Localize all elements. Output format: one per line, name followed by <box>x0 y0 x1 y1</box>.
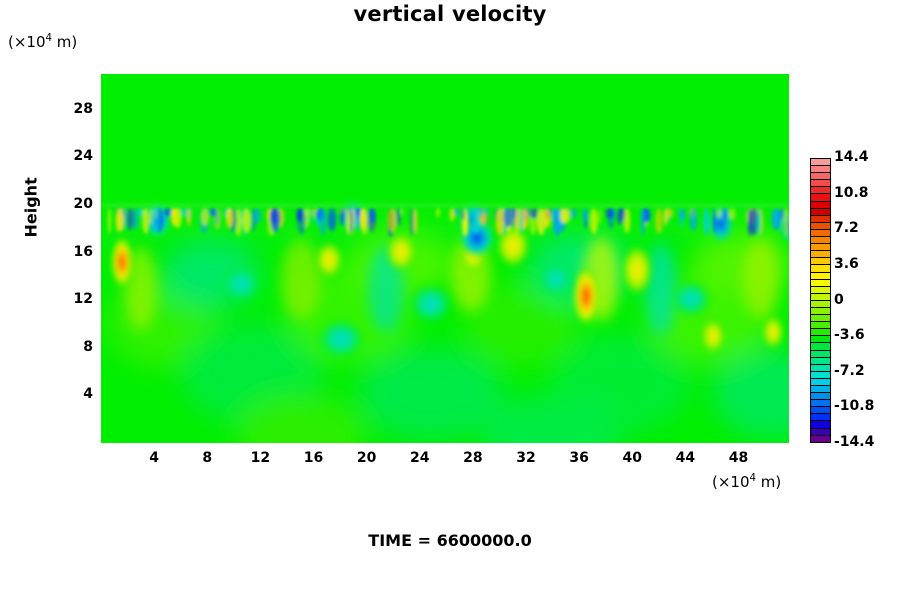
colorbar-segment <box>811 166 830 173</box>
interface-finger <box>164 208 172 216</box>
interface-finger <box>253 208 261 224</box>
x-tick-label: 36 <box>559 450 599 466</box>
colorbar-segment <box>811 429 830 436</box>
colorbar-tick-label: -14.4 <box>834 434 874 450</box>
interface-finger <box>462 208 465 221</box>
interface-finger <box>560 208 567 223</box>
x-tick-label: 32 <box>506 450 546 466</box>
colorbar-tick-label: 3.6 <box>834 256 859 272</box>
interface-finger <box>355 208 361 217</box>
y-tick-label: 4 <box>49 386 93 402</box>
heatmap-image <box>101 74 789 443</box>
interface-finger <box>175 208 182 228</box>
interface-finger <box>187 208 191 226</box>
interface-finger <box>116 208 123 232</box>
interface-finger <box>605 208 612 218</box>
interface-finger <box>388 208 397 232</box>
interface-finger <box>319 208 328 235</box>
y-tick-label: 24 <box>49 148 93 164</box>
colorbar-segment <box>811 287 830 294</box>
x-tick-label: 24 <box>400 450 440 466</box>
interface-finger <box>360 208 365 229</box>
interface-finger <box>655 208 663 234</box>
interface-finger <box>122 208 125 216</box>
interface-finger <box>308 208 312 223</box>
interface-finger <box>530 208 537 219</box>
interface-finger <box>497 208 501 227</box>
interface-finger <box>757 208 761 236</box>
interface-finger <box>623 208 630 233</box>
colorbar-segment <box>811 329 830 336</box>
interface-finger <box>703 208 709 235</box>
colorbar-segment <box>811 421 830 428</box>
colorbar-segment <box>811 244 830 251</box>
interface-finger <box>328 208 336 231</box>
colorbar-segment <box>811 294 830 301</box>
colorbar-tick-label: -7.2 <box>834 363 865 379</box>
interface-finger <box>689 208 698 231</box>
colorbar-segment <box>811 265 830 272</box>
colorbar-segment <box>811 436 830 442</box>
y-tick-label: 12 <box>49 291 93 307</box>
interface-finger <box>481 208 488 215</box>
interface-finger <box>369 208 376 224</box>
colorbar-segment <box>811 336 830 343</box>
interface-finger <box>729 208 736 220</box>
colorbar-segment <box>811 180 830 187</box>
y-tick-label: 28 <box>49 101 93 117</box>
colorbar-segment <box>811 351 830 358</box>
colorbar-segment <box>811 237 830 244</box>
y-tick-label: 16 <box>49 244 93 260</box>
colorbar-segment <box>811 251 830 258</box>
interface-finger <box>570 208 578 219</box>
interface-finger <box>449 208 455 221</box>
colorbar-segment <box>811 400 830 407</box>
x-tick-label: 4 <box>134 450 174 466</box>
interface-finger <box>504 208 513 227</box>
x-tick-label: 44 <box>665 450 705 466</box>
y-axis-title: Height <box>22 212 41 238</box>
interface-finger <box>473 208 480 234</box>
interface-finger <box>296 208 302 222</box>
interface-finger <box>413 208 417 233</box>
colorbar[interactable] <box>810 158 831 443</box>
colorbar-segment <box>811 386 830 393</box>
x-tick-label: 16 <box>294 450 334 466</box>
x-tick-label: 12 <box>240 450 280 466</box>
colorbar-segment <box>811 187 830 194</box>
interface-finger <box>201 208 209 226</box>
colorbar-segment <box>811 258 830 265</box>
x-tick-label: 40 <box>612 450 652 466</box>
interface-finger <box>215 208 219 226</box>
colorbar-segment <box>811 343 830 350</box>
colorbar-segment <box>811 223 830 230</box>
y-tick-label: 8 <box>49 339 93 355</box>
colorbar-segment <box>811 273 830 280</box>
colorbar-segment <box>811 414 830 421</box>
colorbar-tick-label: 7.2 <box>834 220 859 236</box>
colorbar-segment <box>811 379 830 386</box>
interface-finger <box>750 208 759 235</box>
colorbar-tick-label: 14.4 <box>834 149 869 165</box>
interface-finger <box>679 208 686 221</box>
interface-finger <box>713 208 717 233</box>
interface-finger <box>151 208 160 231</box>
y-tick-label: 20 <box>49 196 93 212</box>
interface-finger <box>520 208 523 234</box>
interface-finger <box>400 208 403 216</box>
interface-finger <box>346 208 349 235</box>
interface-finger <box>772 208 781 230</box>
x-tick-label: 48 <box>719 450 759 466</box>
colorbar-segment <box>811 280 830 287</box>
colorbar-segment <box>811 372 830 379</box>
x-tick-label: 8 <box>187 450 227 466</box>
interface-finger <box>270 208 277 225</box>
colorbar-segment <box>811 159 830 166</box>
colorbar-segment <box>811 315 830 322</box>
chart-title: vertical velocity <box>0 2 900 26</box>
interface-finger <box>722 208 730 221</box>
colorbar-segment <box>811 202 830 209</box>
colorbar-segment <box>811 173 830 180</box>
colorbar-segment <box>811 230 830 237</box>
interface-finger <box>599 208 602 224</box>
interface-finger <box>142 208 149 234</box>
colorbar-segment <box>811 216 830 223</box>
colorbar-segment <box>811 301 830 308</box>
interface-finger <box>126 208 134 230</box>
time-annotation: TIME = 6600000.0 <box>0 531 900 550</box>
heatmap-plot-area <box>101 74 789 443</box>
interface-finger <box>641 208 645 236</box>
interface-finger <box>396 208 400 226</box>
colorbar-segment <box>811 194 830 201</box>
x-tick-label: 20 <box>347 450 387 466</box>
colorbar-segment <box>811 209 830 216</box>
colorbar-segment <box>811 407 830 414</box>
colorbar-segment <box>811 308 830 315</box>
colorbar-tick-label: -10.8 <box>834 398 874 414</box>
interface-finger <box>340 208 345 225</box>
interface-finger <box>717 208 721 219</box>
interface-finger <box>590 208 598 234</box>
colorbar-segment <box>811 322 830 329</box>
x-tick-label: 28 <box>453 450 493 466</box>
colorbar-tick-label: 10.8 <box>834 185 869 201</box>
interface-finger <box>537 208 546 235</box>
interface-finger <box>138 208 143 216</box>
colorbar-tick-label: 0 <box>834 292 844 308</box>
interface-finger <box>436 208 439 218</box>
interface-finger <box>243 208 251 233</box>
interface-finger <box>583 208 588 222</box>
interface-finger <box>108 208 111 234</box>
x-axis-unit-label: (×104 m) <box>712 473 781 491</box>
colorbar-segment <box>811 393 830 400</box>
interface-finger <box>664 208 668 226</box>
colorbar-tick-label: -3.6 <box>834 327 865 343</box>
y-axis-unit-label: (×104 m) <box>8 33 77 51</box>
colorbar-segment <box>811 365 830 372</box>
interface-finger <box>553 208 561 235</box>
interface-finger <box>226 208 233 228</box>
colorbar-segment <box>811 358 830 365</box>
